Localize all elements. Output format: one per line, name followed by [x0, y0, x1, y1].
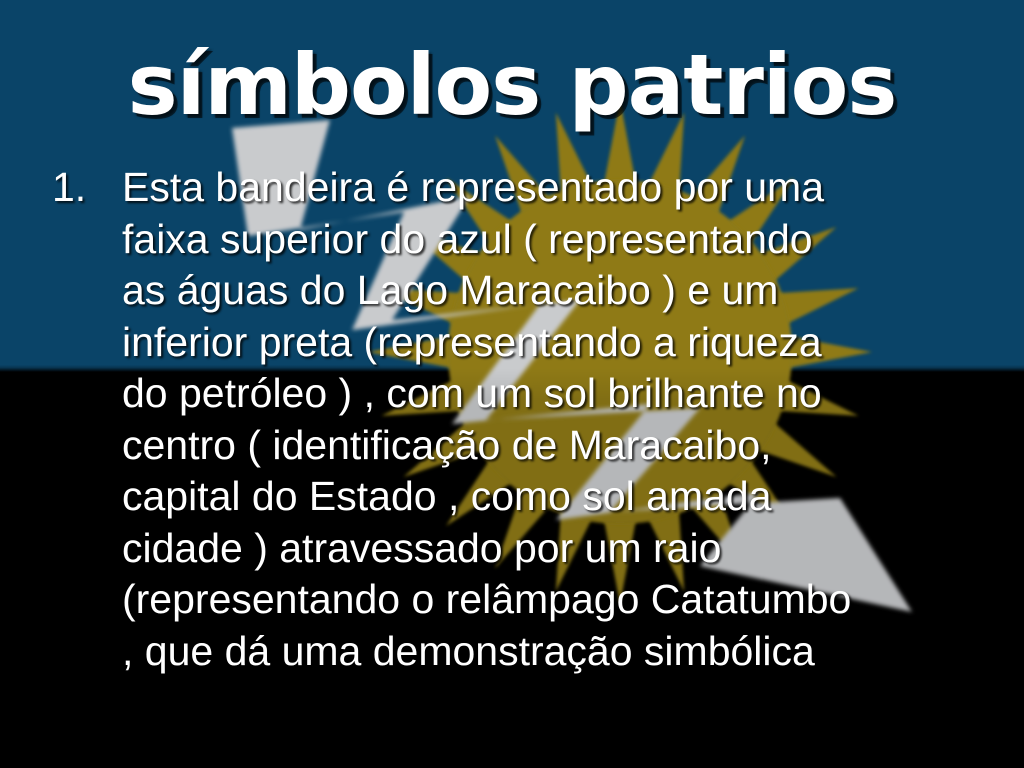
presentation-slide: símbolos patrios 1. Esta bandeira é repr…	[0, 0, 1024, 768]
slide-title: símbolos patrios	[0, 38, 1024, 132]
list-item-text: Esta bandeira é representado por uma fai…	[122, 164, 851, 674]
slide-body-list: 1. Esta bandeira é representado por uma …	[48, 162, 948, 677]
list-item-marker: 1.	[52, 162, 86, 214]
list-item: 1. Esta bandeira é representado por uma …	[48, 162, 948, 677]
slide-text-layer: símbolos patrios 1. Esta bandeira é repr…	[0, 0, 1024, 768]
